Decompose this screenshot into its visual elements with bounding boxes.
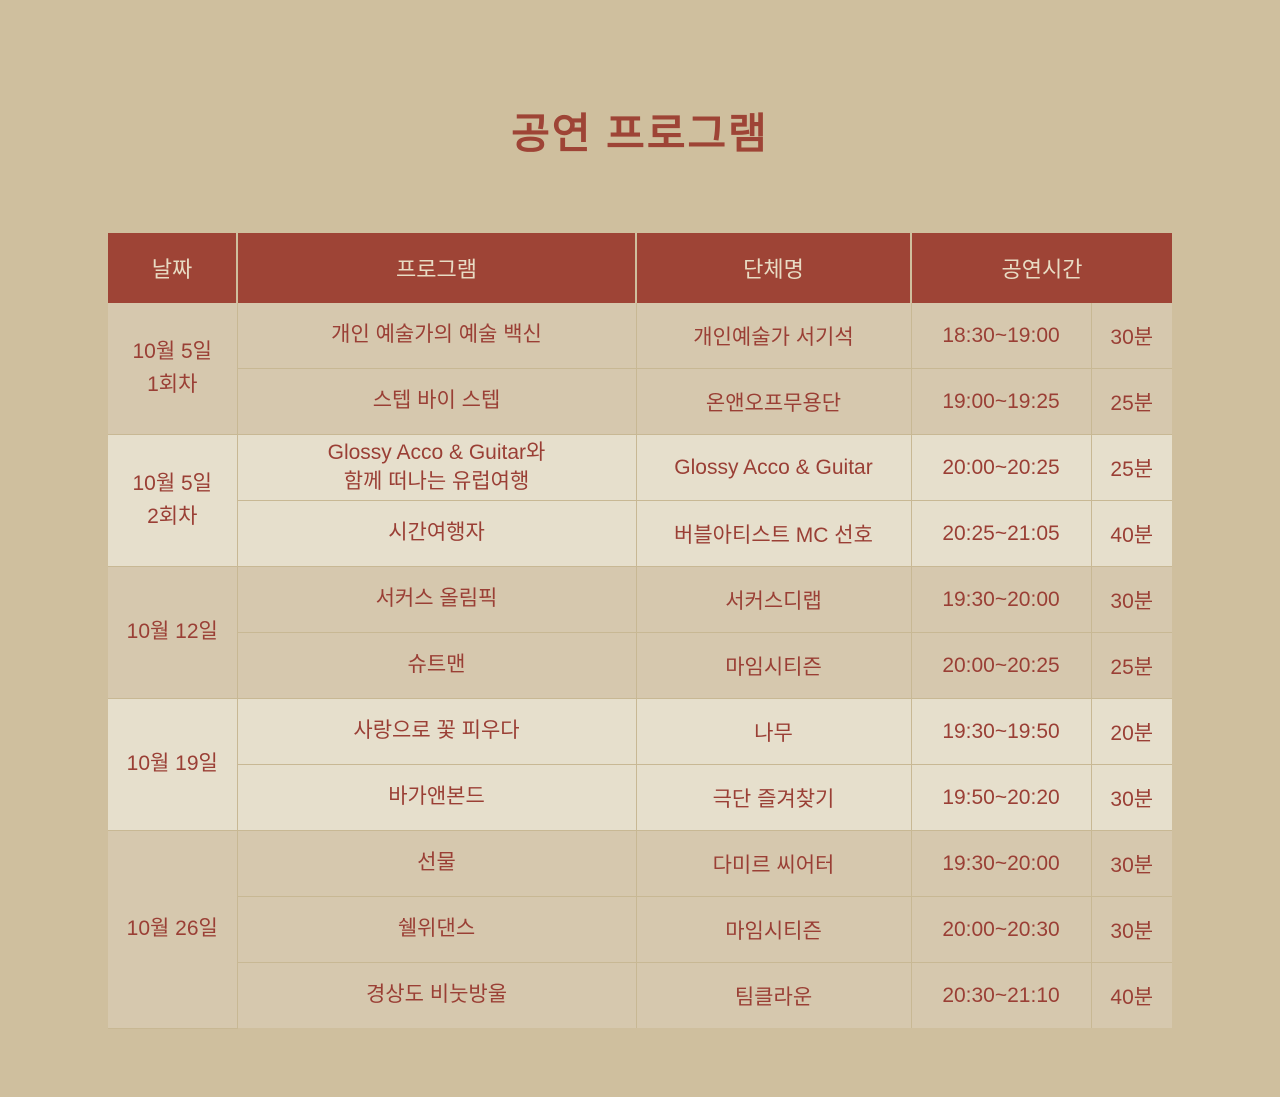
cell-duration: 25분	[1091, 435, 1172, 501]
cell-duration: 30분	[1091, 831, 1172, 897]
cell-duration: 30분	[1091, 897, 1172, 963]
table-body: 10월 5일 1회차개인 예술가의 예술 백신개인예술가 서기석18:30~19…	[108, 303, 1172, 1028]
cell-duration: 20분	[1091, 699, 1172, 765]
cell-troupe: Glossy Acco & Guitar	[636, 435, 911, 501]
cell-time: 18:30~19:00	[911, 303, 1091, 369]
cell-time: 20:25~21:05	[911, 501, 1091, 567]
program-poster: 공연 프로그램 날짜 프로그램 단체명 공연시간 10월 5일 1회차개인 예술…	[0, 0, 1280, 1097]
cell-troupe: 마임시티즌	[636, 633, 911, 699]
cell-duration: 25분	[1091, 369, 1172, 435]
table-row: 10월 5일 1회차개인 예술가의 예술 백신개인예술가 서기석18:30~19…	[108, 303, 1172, 369]
cell-time: 20:30~21:10	[911, 963, 1091, 1029]
table-row: 바가앤본드극단 즐겨찾기19:50~20:2030분	[108, 765, 1172, 831]
cell-troupe: 극단 즐겨찾기	[636, 765, 911, 831]
table-row: 스텝 바이 스텝온앤오프무용단19:00~19:2525분	[108, 369, 1172, 435]
cell-time: 20:00~20:30	[911, 897, 1091, 963]
cell-duration: 30분	[1091, 303, 1172, 369]
cell-troupe: 팀클라운	[636, 963, 911, 1029]
cell-duration: 30분	[1091, 567, 1172, 633]
cell-time: 19:00~19:25	[911, 369, 1091, 435]
table-row: 쉘위댄스마임시티즌20:00~20:3030분	[108, 897, 1172, 963]
cell-program: 슈트맨	[237, 633, 636, 699]
cell-time: 20:00~20:25	[911, 633, 1091, 699]
table-header: 날짜 프로그램 단체명 공연시간	[108, 233, 1172, 303]
cell-program: Glossy Acco & Guitar와 함께 떠나는 유럽여행	[237, 435, 636, 501]
cell-duration: 25분	[1091, 633, 1172, 699]
table-row: 10월 26일선물다미르 씨어터19:30~20:0030분	[108, 831, 1172, 897]
cell-date: 10월 12일	[108, 567, 237, 699]
cell-program: 사랑으로 꽃 피우다	[237, 699, 636, 765]
table-row: 경상도 비눗방울팀클라운20:30~21:1040분	[108, 963, 1172, 1029]
table-row: 10월 12일서커스 올림픽서커스디랩19:30~20:0030분	[108, 567, 1172, 633]
cell-troupe: 마임시티즌	[636, 897, 911, 963]
performance-schedule-table: 날짜 프로그램 단체명 공연시간 10월 5일 1회차개인 예술가의 예술 백신…	[108, 233, 1172, 1029]
table-row: 시간여행자버블아티스트 MC 선호20:25~21:0540분	[108, 501, 1172, 567]
cell-time: 19:50~20:20	[911, 765, 1091, 831]
cell-date: 10월 19일	[108, 699, 237, 831]
cell-time: 19:30~20:00	[911, 567, 1091, 633]
page-title: 공연 프로그램	[0, 100, 1280, 161]
cell-program: 선물	[237, 831, 636, 897]
cell-program: 경상도 비눗방울	[237, 963, 636, 1029]
column-header-showtime: 공연시간	[911, 233, 1172, 303]
column-header-troupe: 단체명	[636, 233, 911, 303]
cell-duration: 40분	[1091, 501, 1172, 567]
header-row: 날짜 프로그램 단체명 공연시간	[108, 233, 1172, 303]
cell-program: 스텝 바이 스텝	[237, 369, 636, 435]
cell-program: 개인 예술가의 예술 백신	[237, 303, 636, 369]
cell-program: 쉘위댄스	[237, 897, 636, 963]
cell-time: 19:30~20:00	[911, 831, 1091, 897]
table-row: 슈트맨마임시티즌20:00~20:2525분	[108, 633, 1172, 699]
cell-date: 10월 5일 1회차	[108, 303, 237, 435]
cell-duration: 40분	[1091, 963, 1172, 1029]
cell-troupe: 다미르 씨어터	[636, 831, 911, 897]
cell-time: 19:30~19:50	[911, 699, 1091, 765]
cell-date: 10월 26일	[108, 831, 237, 1029]
cell-program: 시간여행자	[237, 501, 636, 567]
cell-time: 20:00~20:25	[911, 435, 1091, 501]
column-header-date: 날짜	[108, 233, 237, 303]
cell-troupe: 개인예술가 서기석	[636, 303, 911, 369]
cell-troupe: 서커스디랩	[636, 567, 911, 633]
cell-troupe: 온앤오프무용단	[636, 369, 911, 435]
table-row: 10월 5일 2회차Glossy Acco & Guitar와 함께 떠나는 유…	[108, 435, 1172, 501]
table-row: 10월 19일사랑으로 꽃 피우다나무19:30~19:5020분	[108, 699, 1172, 765]
cell-duration: 30분	[1091, 765, 1172, 831]
cell-program: 바가앤본드	[237, 765, 636, 831]
cell-date: 10월 5일 2회차	[108, 435, 237, 567]
cell-troupe: 버블아티스트 MC 선호	[636, 501, 911, 567]
cell-troupe: 나무	[636, 699, 911, 765]
column-header-program: 프로그램	[237, 233, 636, 303]
cell-program: 서커스 올림픽	[237, 567, 636, 633]
